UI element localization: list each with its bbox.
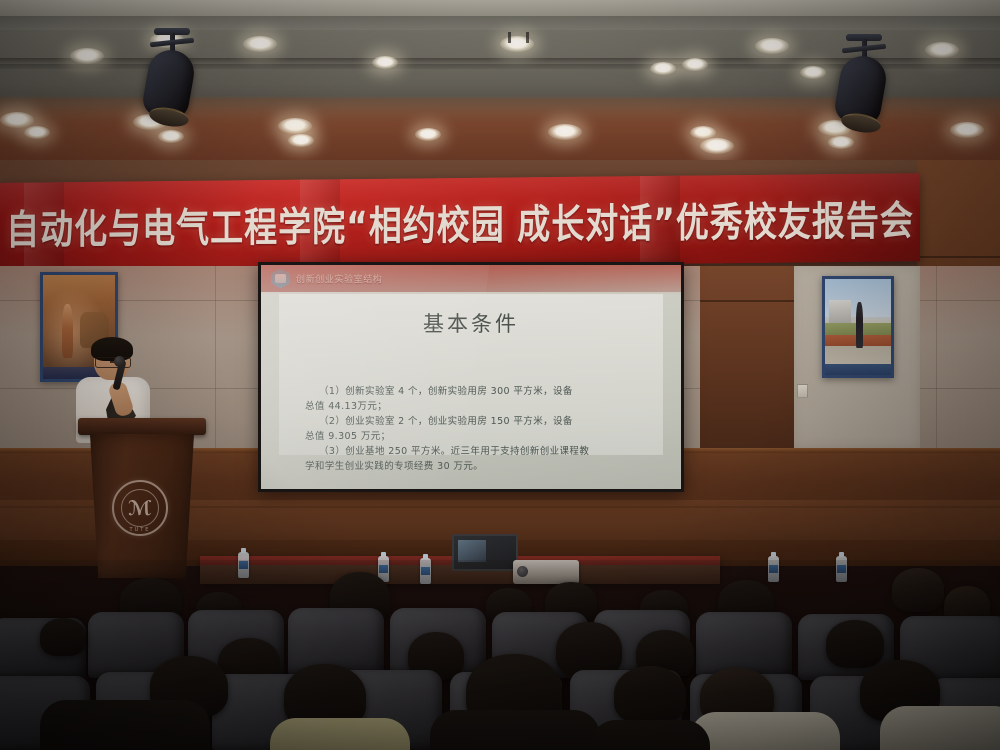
- audience-shoulders: [590, 720, 710, 750]
- slide-line: （2）创业实验室 2 个，创业实验用房 150 平方米，设备: [305, 414, 637, 429]
- ceiling-downlight: [950, 122, 984, 138]
- lectern-podium: ℳ TUTE: [82, 418, 202, 578]
- audience-area: [0, 560, 1000, 750]
- poster-person: [856, 302, 863, 348]
- ceiling-downlight: [755, 38, 789, 54]
- audience-shoulders: [430, 710, 600, 750]
- banner-title-text: 自动化与电气工程学院“相约校园 成长对话”优秀校友报告会: [6, 188, 914, 256]
- wood-seam: [700, 300, 794, 302]
- ceiling-downlight: [690, 126, 716, 139]
- stage-spotlight-right: [832, 34, 896, 142]
- audience-shoulders: [690, 712, 840, 750]
- ceiling-downlight: [548, 124, 582, 140]
- emblem-abbreviation: TUTE: [114, 527, 166, 533]
- wood-seam: [918, 256, 1000, 258]
- audience-shoulders: [40, 700, 210, 750]
- poster-right-artwork: [825, 279, 891, 375]
- slide-line: 总值 9.305 万元；: [305, 429, 637, 444]
- slide-line: 总值 44.13万元；: [305, 399, 637, 414]
- slide-line: 学和学生创业实践的专项经费 30 万元。: [305, 459, 637, 474]
- ceiling-bracket: [508, 32, 511, 43]
- audience-head: [826, 620, 884, 668]
- ceiling: [0, 0, 1000, 160]
- audience-shoulders: [270, 718, 410, 750]
- slide-header-bar: 创新创业实验室结构: [261, 265, 681, 292]
- ceiling-downlight: [415, 128, 441, 141]
- ceiling-downlight: [243, 36, 277, 52]
- audience-head: [614, 666, 686, 724]
- ceiling-downlight: [0, 112, 34, 128]
- ceiling-bracket: [526, 32, 529, 43]
- wall-panel-seam: [215, 266, 216, 448]
- slide-body: 基本条件 （1）创新实验室 4 个，创新实验用房 300 平方米，设备 总值 4…: [279, 294, 663, 455]
- slide-title: 基本条件: [279, 308, 663, 338]
- poster-building: [829, 300, 851, 323]
- wall-wood-column: [700, 266, 794, 448]
- emblem-glyph-icon: ℳ: [128, 498, 152, 518]
- projection-screen: 创新创业实验室结构 基本条件 （1）创新实验室 4 个，创新实验用房 300 平…: [261, 265, 681, 489]
- ceiling-band-top: [0, 0, 1000, 16]
- wall-poster-right: [822, 276, 894, 378]
- stage-spotlight-left: [140, 28, 204, 136]
- hexagon-logo-icon: [271, 269, 290, 289]
- ceiling-downlight: [372, 56, 398, 69]
- wall-panel-seam: [936, 266, 937, 448]
- ceiling-downlight: [278, 118, 312, 134]
- microphone-icon: [114, 356, 125, 367]
- audience-shoulders: [880, 706, 1000, 750]
- laptop-screen-glow: [458, 540, 486, 562]
- ceiling-downlight: [24, 126, 50, 139]
- audience-head: [40, 618, 86, 656]
- poster-footer-band: [825, 364, 891, 375]
- wall-switch[interactable]: [797, 384, 808, 398]
- ceiling-downlight: [682, 58, 708, 71]
- ceiling-downlight: [925, 42, 959, 58]
- auditorium-photo: 自动化与电气工程学院“相约校园 成长对话”优秀校友报告会: [0, 0, 1000, 750]
- emblem-inner-ring: ℳ: [121, 489, 159, 527]
- event-banner: 自动化与电气工程学院“相约校园 成长对话”优秀校友报告会: [0, 173, 920, 271]
- hexagon-logo-inner: [275, 274, 286, 283]
- slide-text-block: （1）创新实验室 4 个，创新实验用房 300 平方米，设备 总值 44.13万…: [305, 384, 637, 474]
- university-emblem: ℳ TUTE: [112, 480, 168, 536]
- ceiling-downlight: [288, 134, 314, 147]
- ceiling-downlight: [800, 66, 826, 79]
- ceiling-downlight: [650, 62, 676, 75]
- slide-line: （3）创业基地 250 平方米。近三年用于支持创新创业课程教: [305, 444, 637, 459]
- ceiling-downlight: [70, 48, 104, 64]
- podium-top-surface: [78, 418, 206, 435]
- slide-header-label: 创新创业实验室结构: [296, 272, 382, 285]
- slide-line: （1）创新实验室 4 个，创新实验用房 300 平方米，设备: [305, 384, 637, 399]
- ceiling-downlight: [700, 138, 734, 154]
- audience-head: [892, 568, 944, 612]
- projection-screen-frame: 创新创业实验室结构 基本条件 （1）创新实验室 4 个，创新实验用房 300 平…: [258, 262, 684, 492]
